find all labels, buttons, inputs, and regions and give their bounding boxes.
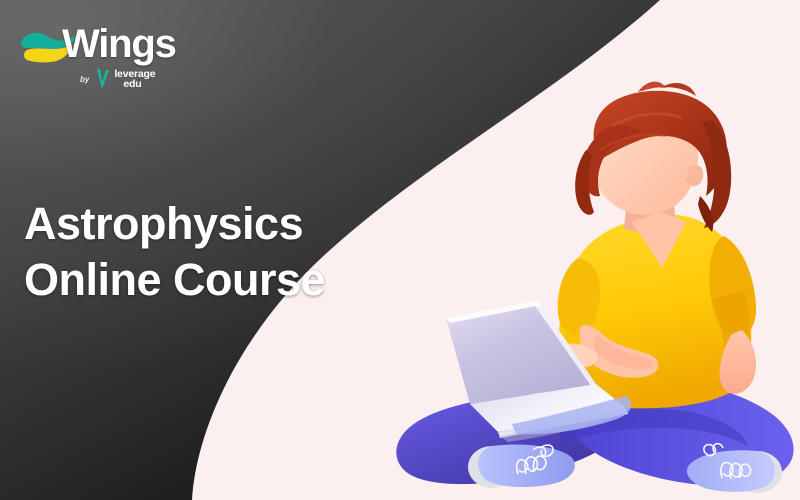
wings-logo[interactable]: Wings by leverage edu [18, 22, 198, 102]
parent-brand-line2: edu [114, 79, 155, 89]
logo-attribution: by leverage edu [80, 66, 155, 92]
parent-brand-name: leverage edu [114, 69, 155, 89]
logo-primary-row: Wings [18, 22, 198, 70]
headline-line-2: Online Course [24, 252, 404, 308]
logo-wordmark: Wings [62, 20, 176, 68]
headline-line-1: Astrophysics [24, 196, 404, 252]
page-title: Astrophysics Online Course [24, 196, 404, 308]
promo-banner: Wings by leverage edu Astrophysics Onlin… [0, 0, 800, 500]
leverage-check-icon [95, 67, 111, 91]
logo-by-label: by [80, 75, 89, 84]
